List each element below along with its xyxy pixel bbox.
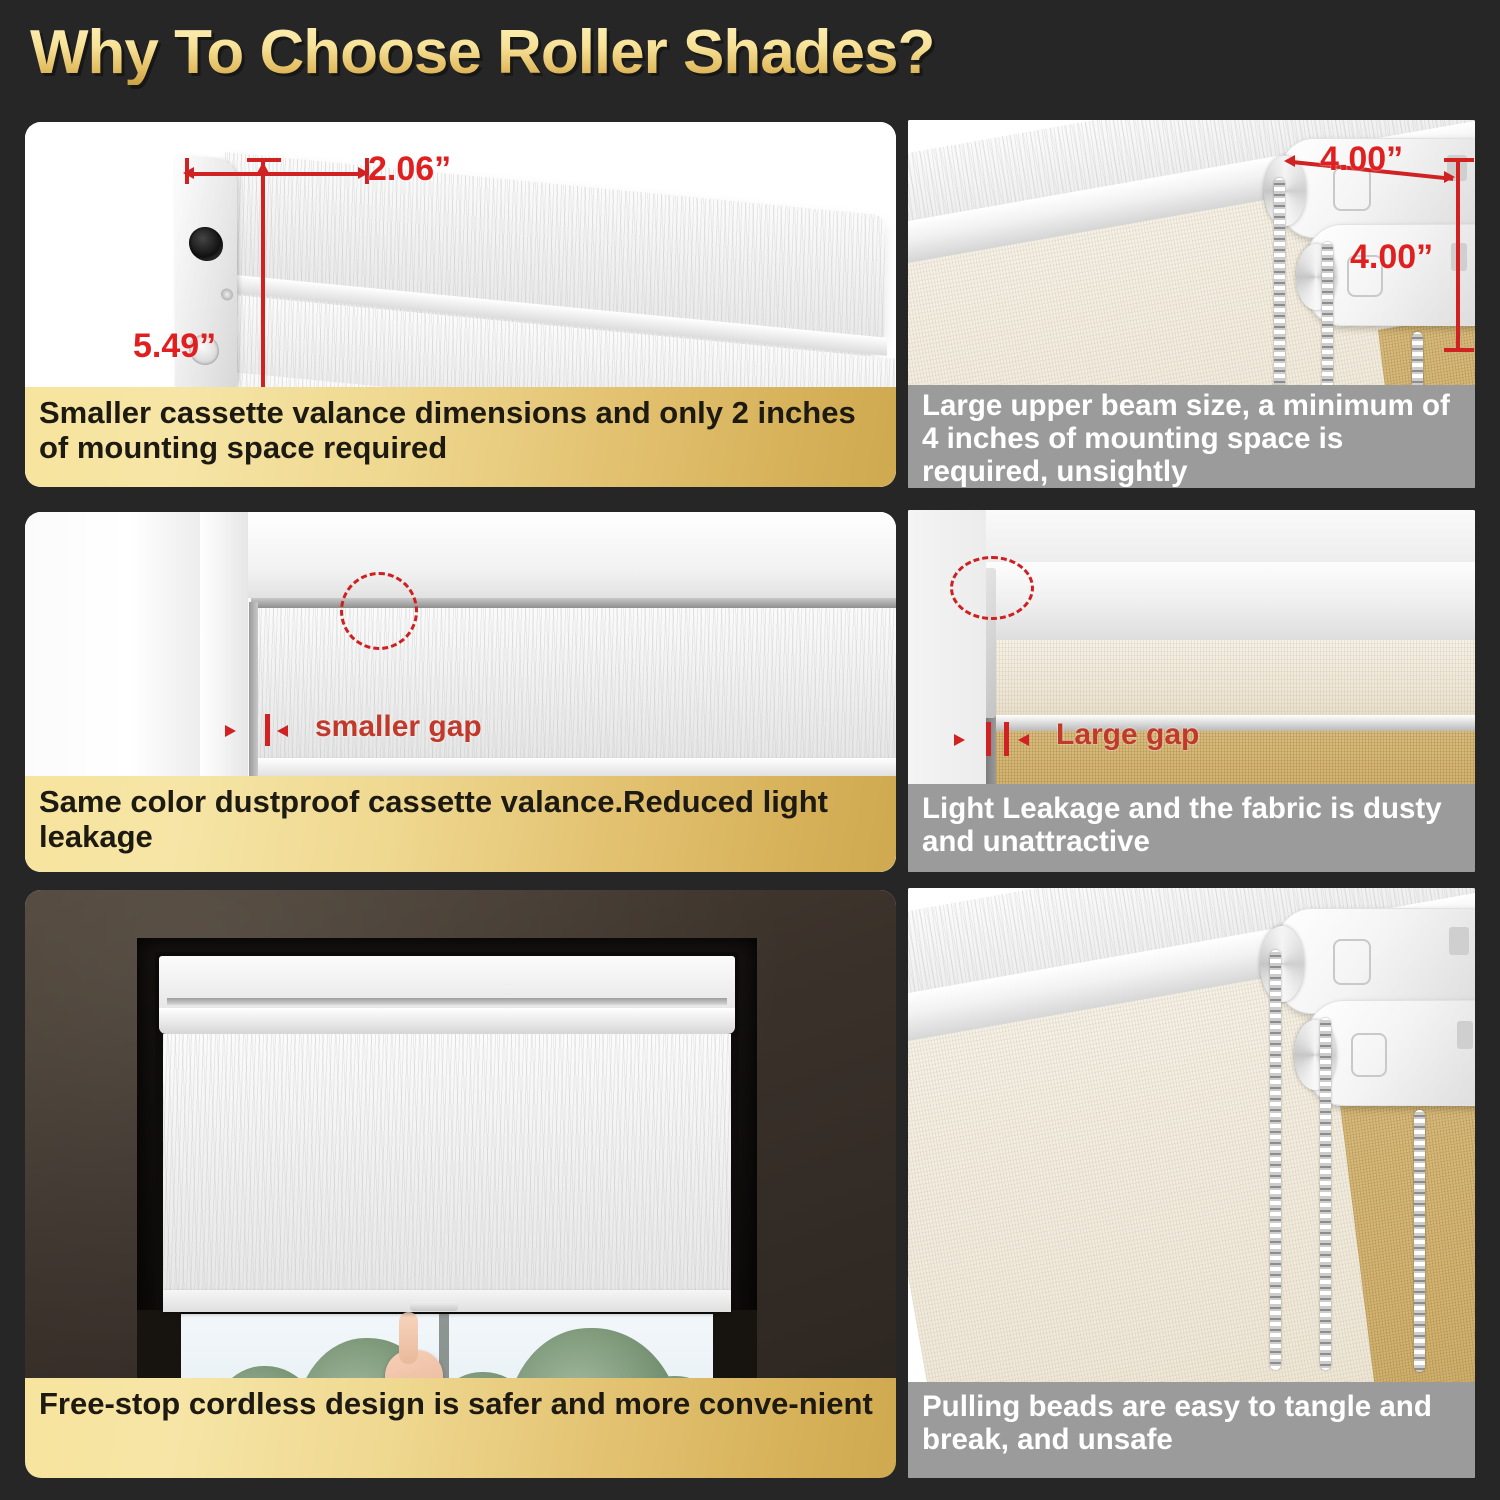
smaller-gap-arrow-right bbox=[277, 725, 288, 737]
caption-smaller-cassette: Smaller cassette valance dimensions and … bbox=[25, 387, 896, 487]
gap-highlight-circle bbox=[950, 556, 1034, 620]
mounting-bracket-upper bbox=[1276, 908, 1475, 1014]
beam-height-tick-bottom bbox=[1444, 348, 1474, 352]
height-dim-arrow-up bbox=[257, 162, 269, 173]
shade-handle bbox=[410, 1302, 458, 1311]
panel-cordless-design: Free-stop cordless design is safer and m… bbox=[25, 890, 896, 1478]
width-dim-arrow-left bbox=[183, 167, 194, 179]
panel-smaller-cassette: 2.06” 5.49” Smaller cassette valance dim… bbox=[25, 122, 896, 487]
panel-pulling-beads: Pulling beads are easy to tangle and bre… bbox=[908, 888, 1475, 1478]
beam-width-arrow-right bbox=[1444, 171, 1455, 183]
caption-smaller-gap: Same color dustproof cassette valance.Re… bbox=[25, 776, 896, 872]
beam-width-arrow-left bbox=[1284, 155, 1295, 167]
bead-chain-right bbox=[1414, 1110, 1425, 1372]
endcap-hole-upper bbox=[189, 226, 223, 262]
valance-lip bbox=[253, 758, 896, 778]
smaller-gap-arrow-left bbox=[225, 725, 236, 737]
large-gap-arrow-right bbox=[1018, 734, 1029, 746]
large-gap-tick-1 bbox=[986, 722, 991, 756]
cassette-endcap bbox=[175, 155, 237, 404]
width-dim-line bbox=[191, 172, 363, 176]
beam-width-label: 4.00” bbox=[1320, 140, 1403, 179]
caption-pulling-beads: Pulling beads are easy to tangle and bre… bbox=[908, 1382, 1475, 1478]
panel-large-gap: Large gap Light Leakage and the fabric i… bbox=[908, 510, 1475, 872]
large-gap-tick-2 bbox=[1004, 722, 1009, 756]
smaller-gap-tick bbox=[265, 714, 270, 746]
large-gap-label: Large gap bbox=[1056, 718, 1199, 752]
caption-large-gap: Light Leakage and the fabric is dusty an… bbox=[908, 784, 1475, 872]
valance-slot bbox=[167, 998, 727, 1005]
beam-height-tick-top bbox=[1444, 158, 1474, 162]
gap-highlight-circle bbox=[340, 572, 418, 650]
bead-pulley-upper bbox=[1260, 926, 1304, 1002]
endcap-screw bbox=[221, 288, 233, 301]
smaller-gap-label: smaller gap bbox=[315, 710, 482, 744]
shade-fabric bbox=[163, 1034, 731, 1304]
valance-bottom bbox=[159, 1008, 735, 1034]
caption-large-upper-beam: Large upper beam size, a minimum of 4 in… bbox=[908, 385, 1475, 488]
large-gap-arrow-left bbox=[954, 734, 965, 746]
panel-smaller-gap: smaller gap Same color dustproof cassett… bbox=[25, 512, 896, 872]
cream-fabric bbox=[996, 640, 1475, 720]
panel-large-upper-beam: 4.00” 4.00” Large upper beam size, a min… bbox=[908, 120, 1475, 488]
beam-height-label: 4.00” bbox=[1350, 238, 1433, 277]
caption-cordless-design: Free-stop cordless design is safer and m… bbox=[25, 1378, 896, 1478]
width-dimension-label: 2.06” bbox=[368, 150, 451, 189]
bead-chain-left bbox=[1274, 178, 1285, 408]
bead-chain-middle bbox=[1320, 1018, 1331, 1370]
height-dimension-label: 5.49” bbox=[133, 327, 216, 366]
bead-chain-left bbox=[1270, 950, 1281, 1370]
page-title: Why To Choose Roller Shades? bbox=[30, 20, 934, 85]
beam-height-dim-line bbox=[1456, 160, 1460, 352]
